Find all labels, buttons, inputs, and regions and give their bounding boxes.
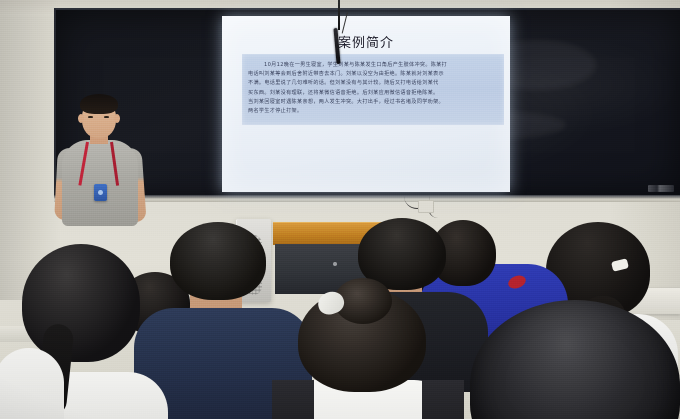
projection-screen[interactable]: 案例简介 10月12晚在一男生寝室，学生刘某与陈某发生口角后产生肢体冲突。陈某打… (222, 16, 510, 192)
student-navy-polo (150, 222, 280, 419)
slide-line: 10月12晚在一男生寝室，学生刘某与陈某发生口角后产生肢体冲突。陈某打 (248, 61, 498, 70)
slide-body-box: 10月12晚在一男生寝室，学生刘某与陈某发生口角后产生肢体冲突。陈某打 电话叫刘… (242, 54, 504, 125)
student-shoulders (0, 348, 64, 419)
student-hair (22, 244, 140, 362)
wall-power-outlet (418, 200, 434, 213)
board-brand-logo (648, 185, 674, 192)
classroom-photo: 案例简介 10月12晚在一男生寝室，学生刘某与陈某发生口角后产生肢体冲突。陈某打… (0, 0, 680, 419)
podium-knob (333, 262, 337, 266)
student-edge-left (0, 348, 64, 419)
slide-title: 案例简介 (222, 32, 510, 51)
presenter-torso (62, 140, 138, 226)
presenter (52, 96, 148, 226)
student-curly-foreground (470, 300, 680, 419)
presenter-eye-right (104, 116, 109, 118)
student-vest-left (272, 380, 314, 419)
presenter-hair (80, 94, 118, 114)
student-vest-right (422, 380, 464, 419)
slide-line: 两名学生才停止打架。 (248, 107, 498, 116)
slide-line: 买东西。刘某没有理联，还将某微信语音拒绝。后刘某应用微信语音拒绝陈某。 (248, 89, 498, 98)
student-hair (470, 300, 680, 419)
student-hair (170, 222, 266, 300)
presenter-ear-left (78, 114, 84, 123)
ceiling-cord (338, 0, 340, 30)
presenter-eye-left (88, 116, 93, 118)
id-badge-photo (98, 190, 103, 195)
slide-line: 当刘某回寝室时遇陈某亲想，两人发生冲突。大打出手，经过书名堵及同学劝架。 (248, 98, 498, 107)
student-hair-bun (282, 282, 442, 419)
slide-line: 电话叫刘某等会到后舍附近带杏去本门。刘某以没空为由拒绝。陈某就对刘某表示 (248, 70, 498, 79)
presenter-ear-right (114, 114, 120, 123)
slide-line: 不满。电话里说了几句难听的话。但刘某没有与其计较。随后又打电话给刘某代 (248, 79, 498, 88)
